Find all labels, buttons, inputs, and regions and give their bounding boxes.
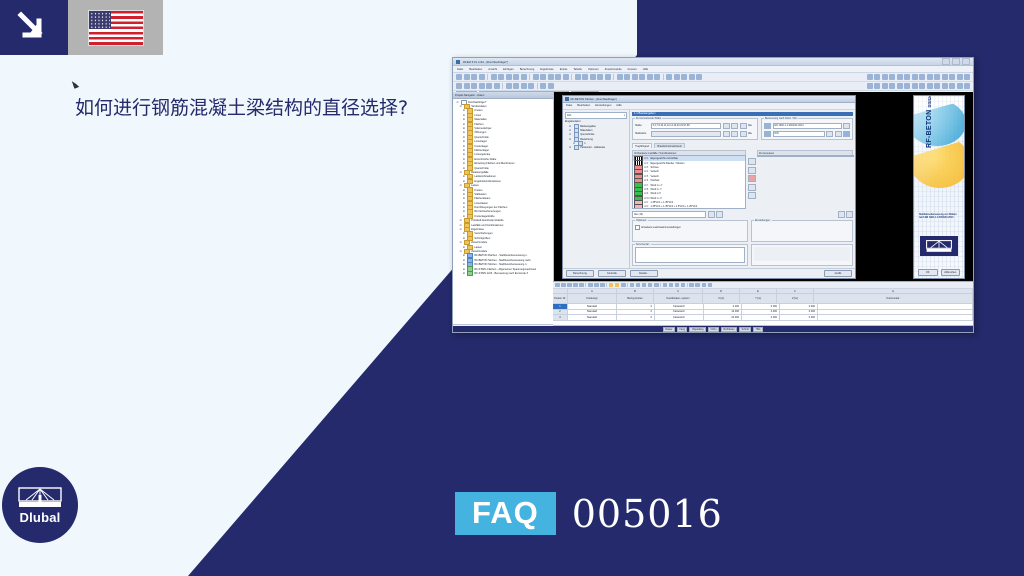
tree-expander-icon[interactable]: ⊟ [569,125,572,128]
na-select[interactable]: DIN [773,131,825,138]
toolbar-right-icon-0[interactable] [867,74,873,80]
tree-expander-icon[interactable]: ⊞ [462,162,465,165]
members-input[interactable]: 3,4,7,9,10,11,12,14,16,20,22,97,98 [651,123,722,130]
toolbar-right-icon-13[interactable] [964,83,970,89]
available-loadcases-list[interactable]: LF1Eigengewicht und AufbauLF2Eigengewich… [632,155,746,209]
toolbar-right-icon-2[interactable] [882,83,888,89]
standard-group-caption: Bemessung nach Norm / NA: [764,117,798,120]
grid-header-1: Knotentyp [568,294,617,304]
minimize-button[interactable] [942,58,950,65]
toolbar-icon-4[interactable] [486,83,492,89]
toolbar-icon-9[interactable] [528,83,534,89]
toolbar-icon-8[interactable] [521,83,527,89]
table-tool-icon-11[interactable] [630,283,635,288]
tree-expander-icon[interactable]: ⊞ [462,123,465,126]
move-left-button[interactable] [748,175,756,182]
dialog-main: 1.1 Basisangaben Zu bemessende Stäbe Stä… [630,110,855,269]
menu-item-9[interactable]: Zusatzmodule [605,68,622,71]
app-window[interactable]: RFEM 5.01 xx64 - [Durchlaufträger*] Date… [452,57,974,333]
table-tool-icon-13[interactable] [642,283,647,288]
folder-icon [467,271,473,276]
tree-expander-icon[interactable]: ⊞ [462,210,465,213]
menu-item-3[interactable]: Einfügen [503,68,514,71]
toolbar-icon-6[interactable] [506,74,512,80]
loadcase-label: Eigengewicht und Aufbau [651,157,679,160]
toolbar-right-icon-11[interactable] [949,74,955,80]
toolbar-icon-18[interactable] [605,74,611,80]
banner-subtitle: Stahlbetonbemessung von Stäben nach EN 1… [919,214,959,220]
na-edit-button[interactable] [826,131,833,138]
tree-expander-icon[interactable]: ⊞ [462,263,465,266]
dialog-icon [565,97,569,101]
navigator-header: Projekt-Navigator - Daten [453,92,553,99]
toolbar-icon-3[interactable] [479,83,485,89]
tree-node[interactable]: ⊞RF-STAHL EC3 - Bemessung nach Eurocode … [454,271,553,275]
tree-expander-icon[interactable]: ⊞ [462,127,465,130]
tree-expander-icon[interactable]: ⊞ [462,136,465,139]
dialog-button-grafik[interactable]: Grafik [824,270,852,278]
table-tool-icon-15[interactable] [654,283,659,288]
comment-textarea[interactable] [635,247,745,263]
selected-down-button[interactable] [846,211,853,218]
table-tool-icon-14[interactable] [648,283,653,288]
table-tool-separator [660,283,661,288]
tree-expander-icon[interactable]: ⊞ [462,197,465,200]
toolbar-icon-21[interactable] [632,74,638,80]
toolbar-icon-27[interactable] [681,74,687,80]
dialog-body: FA1 ▾ Eingabedaten: ⊟Basisangaben⊟Materi… [563,110,855,269]
navigator-tree[interactable]: ⊟Durchlaufträger*⊟Strukturdaten⊞Knoten⊞L… [453,99,553,324]
toolbar-icon-2[interactable] [471,83,477,89]
cell-x[interactable]: 24.000 [704,315,742,320]
membersets-pick-button[interactable] [723,131,730,138]
toolbar-right-icon-4[interactable] [897,74,903,80]
move-right-button[interactable] [748,158,756,165]
toolbar-icon-0[interactable] [456,74,462,80]
dialog-tab-1[interactable]: Brandschutznachweis [654,143,684,148]
loadcase-row[interactable]: LK21.35*LF1 + 1.35*LF2 + 1.5*LF3 + 1.05*… [633,205,745,209]
grid-header-2: Bezug knoten [617,294,654,304]
menu-item-4[interactable]: Berechnung [520,68,535,71]
checkbox-icon[interactable] [635,225,640,230]
grid-header-coord-1: X [m] [703,294,740,304]
members-all-button[interactable] [740,123,747,130]
toolbar-icon-7[interactable] [513,74,519,80]
tree-expander-icon[interactable]: ⊞ [462,140,465,143]
tree-expander-icon[interactable]: ⊟ [569,129,572,132]
toolbar-icon-20[interactable] [624,74,630,80]
dlubal-truss-logo-icon [926,240,952,253]
toolbar-icon-11[interactable] [548,74,554,80]
maximize-button[interactable] [952,58,960,65]
toolbar-right-icon-3[interactable] [889,83,895,89]
tree-expander-icon[interactable]: ⊟ [459,184,462,187]
banner-button-ok[interactable]: OK [918,269,938,277]
tree-expander-icon[interactable]: ⊞ [462,272,465,275]
tree-expander-icon[interactable]: ⊟ [569,133,572,136]
tree-expander-icon[interactable]: ⊞ [462,158,465,161]
toolbar-icon-3[interactable] [479,74,485,80]
table-tool-icon-9[interactable] [615,283,620,288]
toolbar-icon-10[interactable] [540,83,546,89]
toolbar-right-icon-6[interactable] [912,83,918,89]
members-pick-button[interactable] [723,123,730,130]
dialog-tree[interactable]: ⊟Basisangaben⊟Materialien⊟Querschnitte⊟B… [565,125,627,150]
dialog-tab-0[interactable]: Tragfähigkeit [632,143,652,148]
table-tool-icon-3[interactable] [573,283,578,288]
tree-node-label: RF-STAHL Flächen - Allgemeiner Spannungs… [474,268,536,271]
dlubal-truss-logo-icon [18,487,62,509]
menu-bar[interactable]: DateiBearbeitenAnsichtEinfügenBerechnung… [453,66,973,73]
status-item-5[interactable]: Schnitt [739,327,751,332]
tree-expander-icon[interactable]: ⊞ [462,145,465,148]
toolbar-icon-13[interactable] [563,74,569,80]
toolbar-icon-29[interactable] [696,74,702,80]
toolbar-icon-0[interactable] [456,83,462,89]
menu-item-6[interactable]: Extras [560,68,568,71]
norm-info-button[interactable] [843,123,850,130]
toolbar-separator [571,74,572,80]
grid-header-comment: Kommentar [814,294,973,304]
dialog-button-kontrolle[interactable]: Kontrolle [598,270,626,278]
na-new-button[interactable] [835,131,842,138]
move-all-right-button[interactable] [748,167,756,174]
top-panels: Zu bemessende Stäbe Stäbe: 3,4,7,9,10,11… [632,118,853,140]
filter-apply-button[interactable] [708,211,715,218]
tree-expander-icon[interactable]: ⊞ [462,118,465,121]
data-table-panel[interactable]: ABCDEFGKnoten Nr.KnotentypBezug knotenKo… [553,281,973,332]
status-item-6[interactable]: Hilfe [753,327,763,332]
dialog-sidebar[interactable]: FA1 ▾ Eingabedaten: ⊟Basisangaben⊟Materi… [563,110,630,269]
toolbar-separator [502,83,503,89]
tree-expander-icon[interactable]: ⊞ [462,149,465,152]
window-titlebar[interactable]: RFEM 5.01 xx64 - [Durchlaufträger*] [453,58,973,66]
table-tool-icon-21[interactable] [695,283,700,288]
tree-node-label: Einteilung Flächen und Membranen [474,162,514,165]
toolbar-icon-6[interactable] [506,83,512,89]
toolbar-right-icon-1[interactable] [874,83,880,89]
slide-canvas: 如何进行钢筋混凝土梁结构的直径选择? FAQ 005016 Dlubal RFE… [0,0,1024,576]
toolbar-icon-14[interactable] [575,74,581,80]
table-tool-icon-1[interactable] [561,283,566,288]
tree-expander-icon[interactable]: ⊟ [459,241,462,244]
na-row: DIN [764,131,850,138]
tree-node-label: Knotenlagerkräfte [474,215,494,218]
tree-expander-icon[interactable]: ⊞ [462,114,465,117]
menu-item-5[interactable]: Ergebnisse [540,68,553,71]
banner-title-main: RF-BETON [926,110,933,148]
module-banner: RF-BETON Stützen Stahlbetonbemessung von… [913,95,965,279]
banner-button-abbrechen[interactable]: Abbrechen [941,269,961,277]
menu-item-7[interactable]: Tabelle [573,68,582,71]
members-group-caption: Zu bemessende Stäbe [635,117,662,120]
tree-node-label: Linien [474,114,481,117]
tree-expander-icon[interactable]: ⊞ [462,189,465,192]
toolbar-icon-11[interactable] [548,83,554,89]
option-checkbox-row[interactable]: Erweiterte Lastzusammenstellungen [635,225,745,230]
tree-expander-icon[interactable]: ⊟ [459,250,462,253]
status-item-0[interactable]: Raster [663,327,675,332]
table-tool-icon-7[interactable] [600,283,605,288]
table-tool-icon-5[interactable] [588,283,593,288]
toolbar-icon-5[interactable] [494,83,500,89]
flag-block [68,0,163,55]
table-tool-icon-4[interactable] [579,283,584,288]
table-tool-separator [687,283,688,288]
toolbar-right-icon-3[interactable] [889,74,895,80]
loadcase-number: LF7 [644,184,649,187]
dlubal-logo: Dlubal [2,467,78,543]
loadcase-label: Eigengewicht Ständer / Stützen [651,162,685,165]
toolbar-right-icon-8[interactable] [927,83,933,89]
toolbar-icon-7[interactable] [513,83,519,89]
option-label: Erweiterte Lastzusammenstellungen [642,226,681,229]
status-item-4[interactable]: Richtlinien [721,327,737,332]
table-tool-icon-17[interactable] [669,283,674,288]
toolbar-secondary[interactable] [453,82,973,91]
menu-item-11[interactable]: Hilfe [643,68,648,71]
tree-expander-icon[interactable]: ⊞ [462,259,465,262]
dialog-footer[interactable]: BerechnungKontrolleDetails...Grafik [563,268,855,278]
close-button[interactable] [962,58,970,65]
tree-expander-icon[interactable]: ⊟ [569,138,572,141]
tree-node-label: Liniengelenke [474,153,490,156]
workspace: Projekt-Navigator - Daten ⊟Durchlaufträg… [453,92,973,332]
table-tool-icon-0[interactable] [555,283,560,288]
arrow-down-right-icon [17,11,51,45]
table-tool-icon-20[interactable] [689,283,694,288]
dialog-menu-item-1[interactable]: Bearbeiten [577,104,590,107]
filter-clear-button[interactable] [716,211,723,218]
toolbar-icon-1[interactable] [464,74,470,80]
selected-up-button[interactable] [838,211,845,218]
toolbar-icon-19[interactable] [617,74,623,80]
table-tool-icon-16[interactable] [663,283,668,288]
toolbar-right-icon-0[interactable] [867,83,873,89]
selected-loadcases-list[interactable] [757,155,854,157]
table-toolbar[interactable] [553,282,973,289]
cell-type[interactable]: Standard [568,315,617,320]
loadcase-number: LF10 [644,197,649,200]
grid-header-row: Knoten Nr.KnotentypBezug knotenKoordinat… [553,294,973,304]
table-tool-icon-8[interactable] [609,283,614,288]
loadcase-label: 1.35*LF1 + 1.35*LF2 + 1.5*LF3 + 1.05*LF4 [651,205,698,208]
dialog-titlebar[interactable]: RF-BETON Stützen - [Durchlaufträger] [563,96,855,103]
options-caption: Optionen: [635,219,648,222]
tree-expander-icon[interactable]: ⊟ [459,219,462,222]
table-tool-icon-10[interactable] [621,283,626,288]
toolbar-right-icon-10[interactable] [942,74,948,80]
arrow-block [0,0,68,55]
move-all-left-button[interactable] [748,184,756,191]
tree-expander-icon[interactable]: ⊞ [462,268,465,271]
toolbar-primary[interactable] [453,73,973,82]
cell-ref[interactable]: 0 [617,315,655,320]
tree-expander-icon[interactable]: ⊞ [462,193,465,196]
tree-node-label: RF-Netzverfeinerungen [474,210,500,213]
tree-expander-icon[interactable]: ⊟ [459,171,462,174]
tree-expander-icon[interactable]: ⊞ [462,202,465,205]
grid-header-coord-3: Z [m] [777,294,814,304]
grid-row-number[interactable]: 3 [553,315,568,320]
tree-node-label: Verschiebungen [474,232,492,235]
tree-node-label: Belastungsfälle [471,171,488,174]
case-selector[interactable]: FA1 ▾ [565,112,627,119]
membersets-all-label: Alle [748,132,755,135]
dialog-button-details[interactable]: Details... [630,270,658,278]
loadcase-label: 1.35*LF1 + 1.35*LF2 [651,201,674,204]
membersets-edit-button[interactable] [731,131,738,138]
toolbar-icon-17[interactable] [597,74,603,80]
status-item-3[interactable]: Ortho [708,327,719,332]
menu-item-10[interactable]: Fenster [628,68,637,71]
toolbar-icon-25[interactable] [666,74,672,80]
tree-node-label: Linienlager [474,140,486,143]
toolbar-right-icon-11[interactable] [949,83,955,89]
toolbar-icon-1[interactable] [464,83,470,89]
tree-expander-icon[interactable]: ⊞ [462,153,465,156]
dialog-menu-item-0[interactable]: Datei [566,104,572,107]
toolbar-icon-10[interactable] [540,74,546,80]
dialog-menu-item-2[interactable]: Einstellungen [595,104,611,107]
toolbar-right-icon-1[interactable] [874,74,880,80]
transfer-buttons[interactable] [748,150,755,209]
project-navigator[interactable]: Projekt-Navigator - Daten ⊟Durchlaufträg… [453,92,554,332]
toolbar-right-icon-5[interactable] [904,83,910,89]
norm-select[interactable]: EN 1992-1-1:2004/A1:2014 [773,123,842,130]
tree-expander-icon[interactable]: ⊟ [456,101,459,104]
tree-expander-icon[interactable]: ⊞ [462,206,465,209]
tree-expander-icon[interactable]: ⊟ [459,228,462,231]
membersets-all-button[interactable] [740,131,747,138]
toolbar-icon-9[interactable] [533,74,539,80]
toolbar-right-icon-7[interactable] [919,74,925,80]
table-tool-icon-2[interactable] [567,283,572,288]
move-up-button[interactable] [748,192,756,199]
cell-y[interactable]: 0.000 [742,315,780,320]
tree-node-label: Protokoll-Ausdruckprotokolle [471,219,503,222]
members-edit-button[interactable] [731,123,738,130]
table-tool-icon-23[interactable] [708,283,713,288]
tree-node-label: Knoten [474,109,482,112]
table-tool-icon-22[interactable] [702,283,707,288]
tree-expander-icon[interactable]: ⊞ [462,131,465,134]
tree-expander-icon[interactable]: ⊟ [569,146,572,149]
cell-z[interactable]: 0.000 [780,315,818,320]
table-tool-icon-6[interactable] [594,283,599,288]
table-tool-separator [585,283,586,288]
tree-expander-icon[interactable]: ⊞ [462,232,465,235]
toolbar-icon-4[interactable] [491,74,497,80]
window-controls[interactable] [942,58,970,65]
dialog-node-icon [574,145,579,150]
toolbar-right-icon-5[interactable] [904,74,910,80]
loadcase-label: Wind in -X [651,197,662,200]
toolbar-icon-24[interactable] [654,74,660,80]
loadcase-number: LF9 [644,192,649,195]
settings-group: Einstellungen: [751,220,853,242]
toolbar-icon-26[interactable] [674,74,680,80]
cell-comment[interactable] [818,315,973,320]
toolbar-icon-22[interactable] [639,74,645,80]
toolbar-right-icon-6[interactable] [912,74,918,80]
dialog-button-berechnung[interactable]: Berechnung [566,270,594,278]
toolbar-right-icon-2[interactable] [882,74,888,80]
tree-expander-icon[interactable]: ⊟ [459,105,462,108]
banner-title: RF-BETON Stützen [926,95,933,148]
toolbar-right-icon-8[interactable] [927,74,933,80]
tree-node-label: Stablasten [474,193,486,196]
toolbar-icon-28[interactable] [689,74,695,80]
toolbar-icon-12[interactable] [555,74,561,80]
toolbar-icon-8[interactable] [521,74,527,80]
data-grid[interactable]: ABCDEFGKnoten Nr.KnotentypBezug knotenKo… [553,289,973,325]
toolbar-right-icon-9[interactable] [934,83,940,89]
table-tool-icon-18[interactable] [675,283,680,288]
tree-expander-icon[interactable]: ⊞ [462,175,465,178]
status-item-2[interactable]: Objektfang [689,327,706,332]
dialog-tree-label: Materialien [580,129,592,132]
toolbar-icon-16[interactable] [590,74,596,80]
status-bar[interactable]: RasterFangObjektfangOrthoRichtlinienSchn… [453,326,973,332]
table-tool-icon-19[interactable] [681,283,686,288]
tree-node-label: RF-BETON Flächen - Stahlbetonbemessung n… [474,254,527,257]
status-item-1[interactable]: Fang [677,327,687,332]
dialog-tree-node[interactable]: ⊟Parameter - stabweise [565,145,627,149]
comment-row: Kommentar: [632,244,853,266]
toolbar-icon-23[interactable] [647,74,653,80]
toolbar-icon-15[interactable] [582,74,588,80]
menu-item-0[interactable]: Datei [457,68,463,71]
na-flag-icon [764,131,771,138]
cell-coordsys[interactable]: Kartesisch [655,315,704,320]
comment-side-blank [754,247,850,261]
menu-item-1[interactable]: Bearbeiten [469,68,482,71]
rf-beton-dialog[interactable]: RF-BETON Stützen - [Durchlaufträger] Dat… [562,95,856,279]
toolbar-right-icon-12[interactable] [957,83,963,89]
tree-node-label: Querschnitte [474,167,488,170]
menu-item-2[interactable]: Ansicht [488,68,497,71]
toolbar-right-icon-7[interactable] [919,83,925,89]
banner-buttons[interactable]: OKAbbrechen [918,269,960,277]
membersets-input[interactable] [651,131,722,138]
na-help-button[interactable] [843,131,850,138]
dialog-menu-item-3[interactable]: Hilfe [616,104,621,107]
tree-expander-icon[interactable]: ⊞ [462,254,465,257]
tree-node-label: Flächen [474,123,483,126]
toolbar-separator [487,74,488,80]
toolbar-separator [663,74,664,80]
menu-item-8[interactable]: Optionen [588,68,599,71]
toolbar-icon-5[interactable] [498,74,504,80]
case-selector-value: FA1 [567,114,571,117]
toolbar-right-icon-12[interactable] [957,74,963,80]
toolbar-right-icon-13[interactable] [964,74,970,80]
table-row[interactable]: 3Standard0Kartesisch24.0000.0000.000 [553,315,973,320]
dialog-tabs[interactable]: TragfähigkeitBrandschutznachweis [632,143,853,148]
table-tool-icon-12[interactable] [636,283,641,288]
toolbar-right-icon-10[interactable] [942,83,948,89]
filter-select[interactable]: Alle (16) [632,211,706,218]
loadcase-lists: Vorhandene Lastfälle / Kombinationen LF1… [632,150,853,209]
toolbar-right-icon-9[interactable] [934,74,940,80]
banner-title-sub: Stützen [927,95,932,108]
toolbar-icon-2[interactable] [471,74,477,80]
page-title: 如何进行钢筋混凝土梁结构的直径选择? [75,96,495,120]
tree-expander-icon[interactable]: ⊞ [462,109,465,112]
toolbar-right-icon-4[interactable] [897,83,903,89]
tree-expander-icon[interactable]: ⊟ [459,224,462,227]
